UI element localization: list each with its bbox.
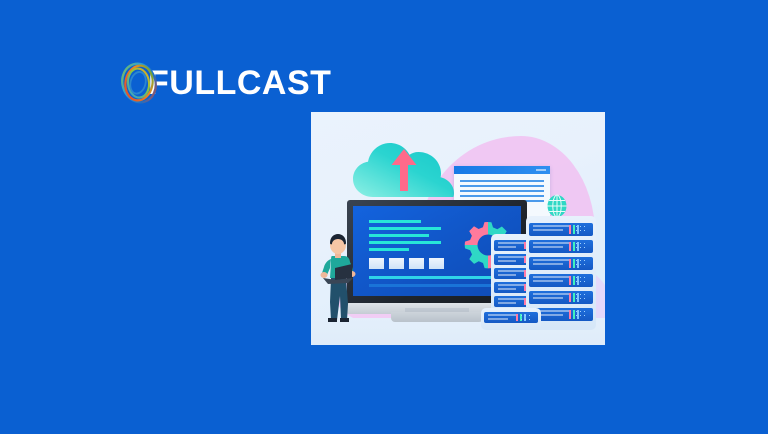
dashboard-progress-bar-2 xyxy=(369,284,507,287)
dashboard-progress-bar-1 xyxy=(369,276,507,279)
dashboard-text-lines xyxy=(369,220,441,255)
server-unit xyxy=(529,240,593,253)
server-unit xyxy=(529,257,593,270)
cloud-upload-icon xyxy=(353,137,455,199)
server-unit xyxy=(529,274,593,287)
server-unit xyxy=(529,223,593,236)
server-rack-low xyxy=(481,308,541,330)
server-unit xyxy=(529,291,593,304)
brand-wordmark: FULLCAST xyxy=(148,66,331,100)
hero-illustration xyxy=(311,112,605,345)
dashboard-card-row xyxy=(369,258,444,269)
person-with-laptop xyxy=(317,230,359,324)
globe-icon xyxy=(545,194,569,218)
brand-logo[interactable]: FULLCAST xyxy=(118,60,331,106)
monitor-foot xyxy=(391,312,483,322)
browser-titlebar xyxy=(454,166,550,174)
server-unit xyxy=(484,312,538,323)
fullcast-ring-icon xyxy=(118,61,160,105)
banner-canvas: FULLCAST xyxy=(0,0,768,434)
